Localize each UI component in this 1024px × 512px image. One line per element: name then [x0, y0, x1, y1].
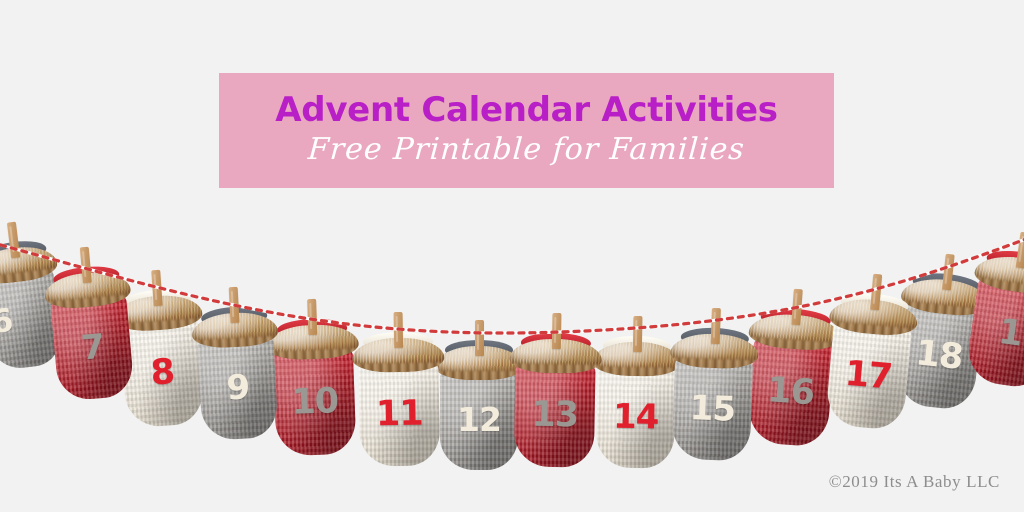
- poster-canvas: 678910111213141516171819 Advent Calendar…: [0, 0, 1024, 512]
- stocking-16: 16: [747, 312, 836, 447]
- stocking-11: 11: [358, 337, 440, 466]
- clothespin-8: [151, 270, 162, 307]
- stocking-19: 19: [965, 253, 1024, 391]
- stocking-14: 14: [596, 341, 676, 468]
- clothespin-14: [633, 316, 643, 352]
- stocking-10: 10: [272, 324, 356, 457]
- clothespin-10: [307, 299, 317, 335]
- stocking-9: 9: [196, 311, 278, 441]
- stocking-number-16: 16: [749, 372, 831, 412]
- stocking-number-10: 10: [274, 384, 355, 422]
- stocking-number-11: 11: [359, 396, 440, 432]
- page-title: Advent Calendar Activities: [275, 93, 777, 129]
- title-banner: Advent Calendar Activities Free Printabl…: [219, 73, 834, 188]
- page-subtitle: Free Printable for Families: [307, 133, 746, 168]
- stocking-number-12: 12: [440, 403, 518, 436]
- stocking-number-7: 7: [53, 327, 132, 367]
- clothespin-19: [1016, 232, 1024, 269]
- stocking-number-17: 17: [828, 355, 909, 397]
- stocking-12: 12: [440, 346, 518, 470]
- stocking-number-9: 9: [199, 369, 277, 407]
- clothespin-15: [711, 308, 721, 344]
- stocking-number-13: 13: [514, 397, 595, 433]
- stocking-7: 7: [48, 270, 135, 402]
- stocking-number-15: 15: [673, 391, 752, 428]
- copyright-notice: ©2019 Its A Baby LLC: [829, 472, 1000, 492]
- stocking-15: 15: [672, 333, 754, 462]
- clothespin-13: [552, 313, 562, 349]
- stocking-number-14: 14: [596, 399, 675, 434]
- stocking-17: 17: [825, 297, 914, 431]
- clothespin-12: [475, 320, 484, 356]
- clothespin-11: [394, 312, 404, 348]
- clothespin-9: [229, 287, 240, 323]
- stocking-13: 13: [514, 338, 596, 467]
- clothespin-7: [80, 247, 92, 284]
- stocking-number-8: 8: [122, 353, 202, 393]
